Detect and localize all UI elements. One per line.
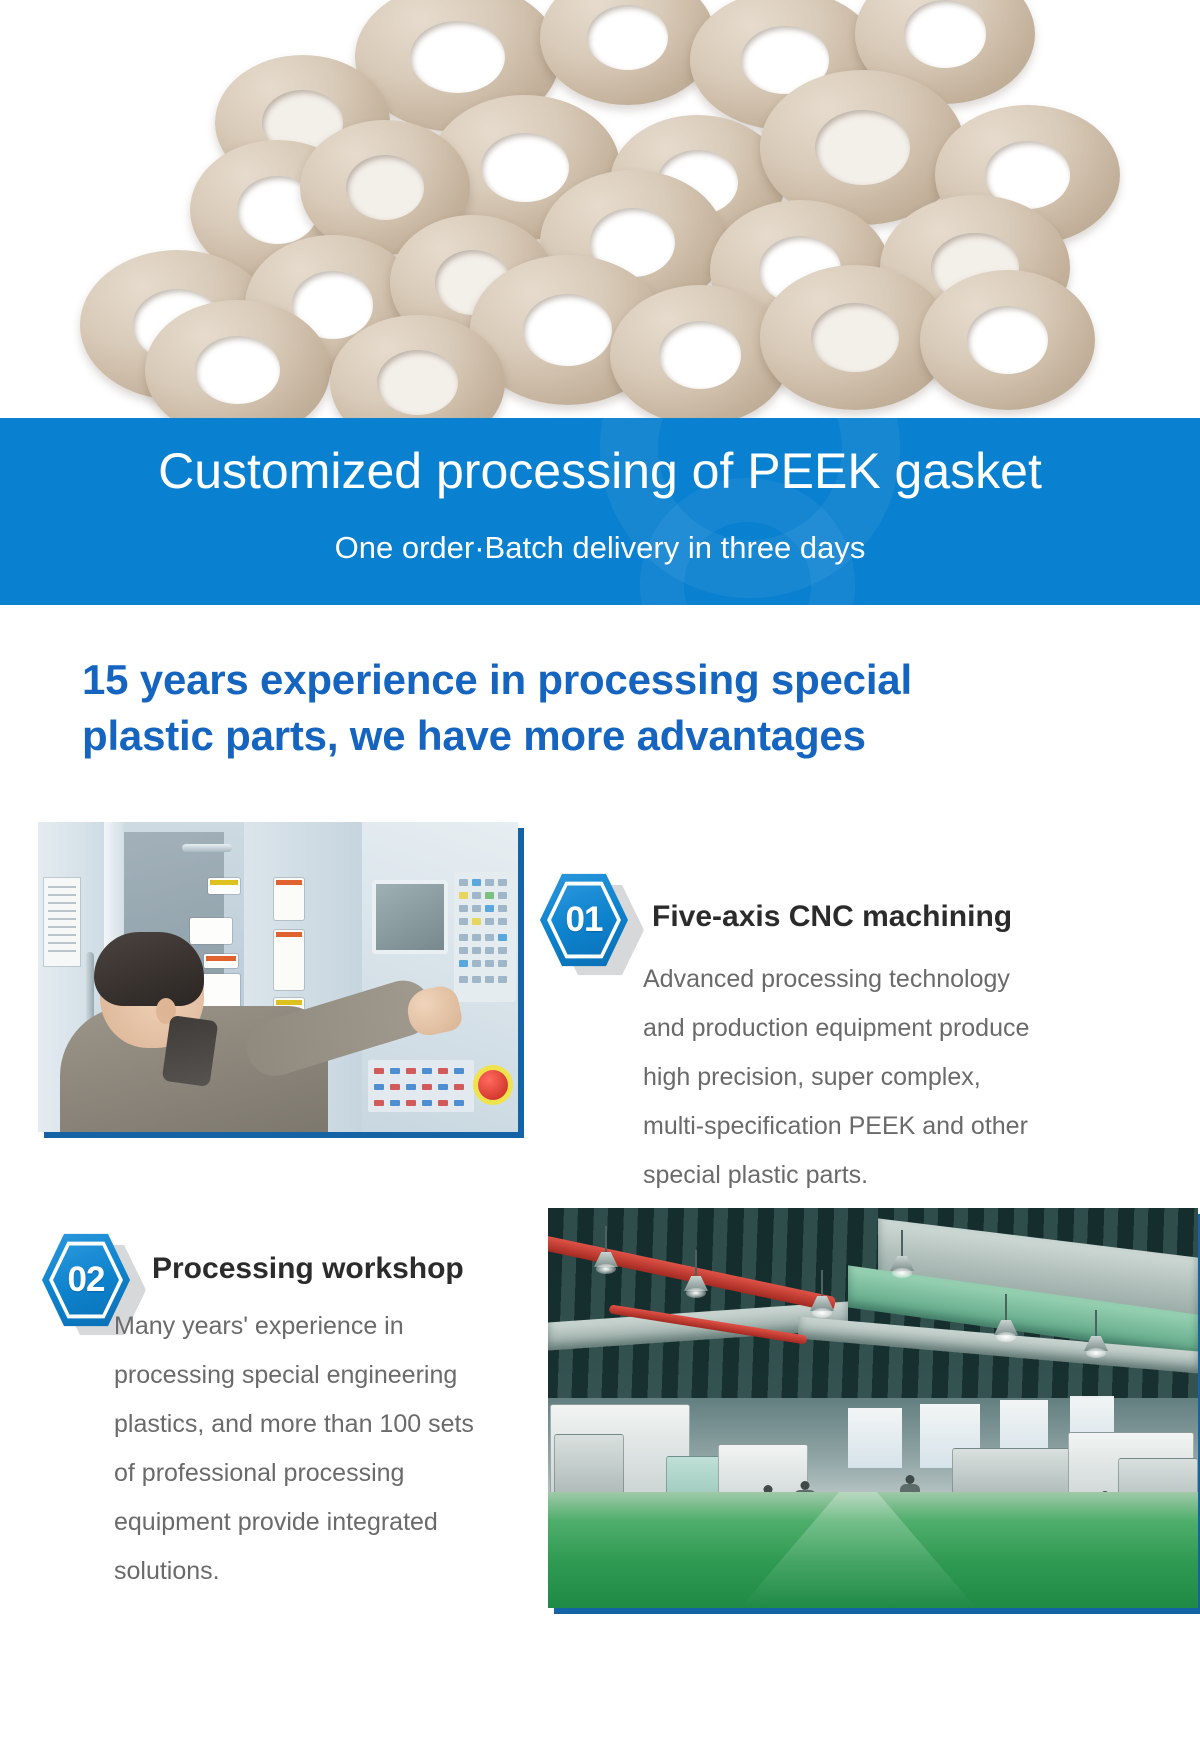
worker-hair [94,932,204,1006]
feature-body-line: solutions. [114,1547,534,1596]
feature-body-line: special plastic parts. [643,1151,1083,1200]
gasket-ring-icon [920,270,1095,410]
warning-label-icon [274,878,304,920]
sticker-icon [190,918,232,944]
cabinet-handle-icon [182,844,232,852]
section-heading-line-2: plastic parts, we have more advantages [82,708,1082,764]
gasket-ring-icon [540,0,715,105]
document-sheet-icon [44,878,80,966]
product-detail-page: Customized processing of PEEK gasket One… [0,0,1200,1748]
feature-body-line: equipment provide integrated [114,1498,534,1547]
window-pane [848,1408,902,1468]
feature-body-line: Advanced processing technology [643,955,1083,1004]
feature-body-line: processing special engineering [114,1351,534,1400]
banner-subtitle: One order·Batch delivery in three days [0,530,1200,566]
section-heading: 15 years experience in processing specia… [82,652,1082,764]
gasket-pile-image [0,0,1200,420]
feature-body-02: Many years' experience in processing spe… [114,1302,534,1596]
hero-banner: Customized processing of PEEK gasket One… [0,418,1200,605]
cnc-control-buttons [368,1060,474,1112]
feature-body-line: multi-specification PEEK and other [643,1102,1083,1151]
banner-title: Customized processing of PEEK gasket [0,442,1200,500]
feature-body-line: of professional processing [114,1449,534,1498]
workshop-photo-inner [548,1208,1198,1608]
feature-body-line: Many years' experience in [114,1302,534,1351]
cnc-machining-photo [38,822,518,1132]
sticker-icon [204,954,238,968]
feature-body-01: Advanced processing technology and produ… [643,955,1083,1200]
cnc-photo-inner [38,822,518,1132]
sticker-icon [208,878,240,894]
emergency-stop-button [478,1070,508,1100]
feature-number-01: 01 [540,872,628,968]
feature-badge-01: 01 [540,872,628,968]
feature-body-line: high precision, super complex, [643,1053,1083,1102]
worker-collar [162,1015,219,1087]
section-heading-line-1: 15 years experience in processing specia… [82,656,912,703]
workshop-green-floor [548,1492,1198,1608]
workshop-photo [548,1208,1198,1608]
cnc-display-screen [372,880,448,954]
hero-product-photo [0,0,1200,420]
feature-body-line: and production equipment produce [643,1004,1083,1053]
cnc-keypad [454,872,516,1002]
warning-label-icon [274,930,304,990]
feature-title-01: Five-axis CNC machining [652,900,1012,934]
feature-title-02: Processing workshop [152,1252,464,1286]
feature-body-line: plastics, and more than 100 sets [114,1400,534,1449]
